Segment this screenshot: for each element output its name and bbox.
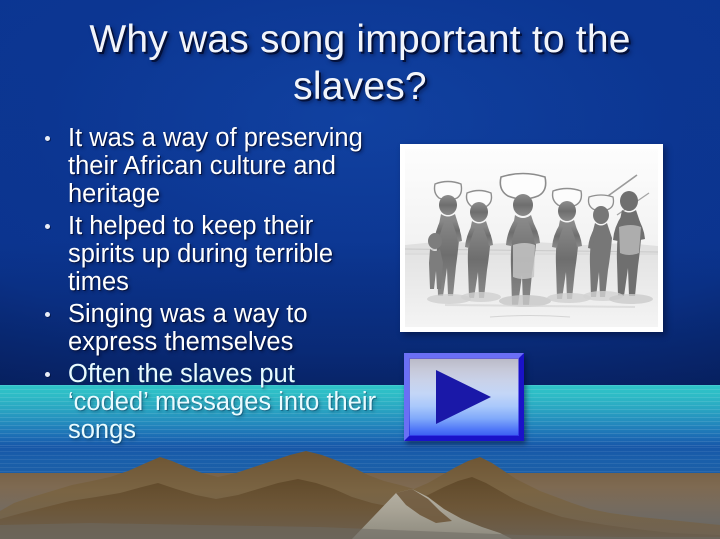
bullet-list: It was a way of preserving their African… bbox=[34, 124, 380, 448]
play-button[interactable] bbox=[404, 353, 524, 441]
presentation-slide: Why was song important to the slaves? It… bbox=[0, 0, 720, 539]
slaves-carrying-vessels-engraving bbox=[405, 149, 658, 327]
play-triangle-icon bbox=[409, 358, 519, 436]
list-item: Often the slaves put ‘coded’ messages in… bbox=[34, 360, 380, 444]
list-item: It helped to keep their spirits up durin… bbox=[34, 212, 380, 296]
list-item: It was a way of preserving their African… bbox=[34, 124, 380, 208]
slide-image bbox=[400, 144, 663, 332]
list-item: Singing was a way to express themselves bbox=[34, 300, 380, 356]
page-title: Why was song important to the slaves? bbox=[40, 16, 680, 110]
